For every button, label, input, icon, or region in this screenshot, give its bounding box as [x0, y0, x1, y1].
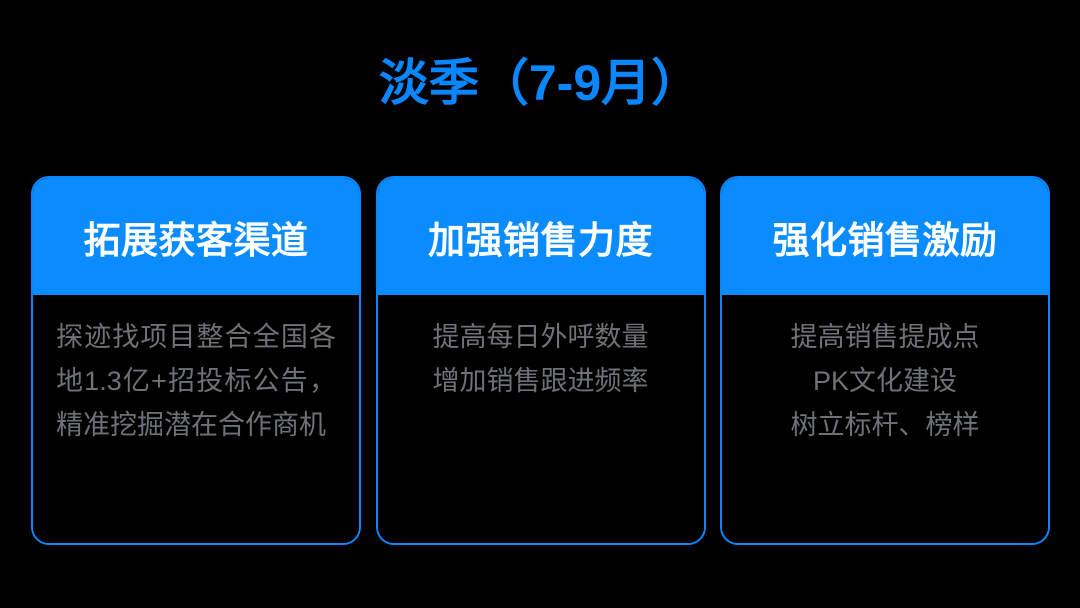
- card-expand-channels[interactable]: 拓展获客渠道 探迹找项目整合全国各地1.3亿+招投标公告，精准挖掘潜在合作商机: [31, 176, 361, 545]
- card-body-line: 增加销售跟进频率: [433, 359, 649, 403]
- card-header-strengthen-sales: 加强销售力度: [378, 178, 704, 295]
- card-sales-incentive[interactable]: 强化销售激励 提高销售提成点 PK文化建设 树立标杆、榜样: [720, 176, 1050, 545]
- card-body-line: PK文化建设: [791, 359, 980, 403]
- card-body-strengthen-sales: 提高每日外呼数量 增加销售跟进频率: [378, 295, 704, 543]
- card-body-sales-incentive: 提高销售提成点 PK文化建设 树立标杆、榜样: [722, 295, 1048, 543]
- card-strengthen-sales[interactable]: 加强销售力度 提高每日外呼数量 增加销售跟进频率: [376, 176, 706, 545]
- card-body-line: 提高销售提成点: [791, 315, 980, 359]
- card-body-expand-channels: 探迹找项目整合全国各地1.3亿+招投标公告，精准挖掘潜在合作商机: [33, 295, 359, 543]
- card-body-line: 提高每日外呼数量: [433, 315, 649, 359]
- card-row: 拓展获客渠道 探迹找项目整合全国各地1.3亿+招投标公告，精准挖掘潜在合作商机 …: [31, 176, 1050, 545]
- slide-canvas: 淡季（7-9月） 拓展获客渠道 探迹找项目整合全国各地1.3亿+招投标公告，精准…: [0, 0, 1080, 608]
- card-body-text-expand-channels: 探迹找项目整合全国各地1.3亿+招投标公告，精准挖掘潜在合作商机: [56, 315, 336, 447]
- card-header-expand-channels: 拓展获客渠道: [33, 178, 359, 295]
- card-body-lines-strengthen-sales: 提高每日外呼数量 增加销售跟进频率: [433, 315, 649, 403]
- page-title: 淡季（7-9月）: [0, 52, 1080, 114]
- card-body-line: 树立标杆、榜样: [791, 403, 980, 447]
- card-header-sales-incentive: 强化销售激励: [722, 178, 1048, 295]
- card-body-lines-sales-incentive: 提高销售提成点 PK文化建设 树立标杆、榜样: [791, 315, 980, 447]
